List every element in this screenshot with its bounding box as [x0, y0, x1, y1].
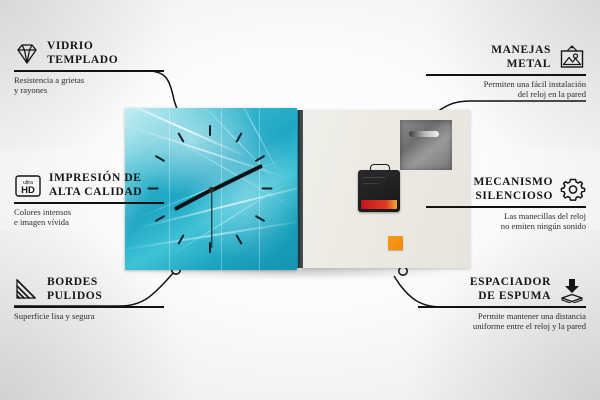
feature-title: ESPACIADOR DE ESPUMA	[470, 276, 551, 303]
mechanism-red-label	[361, 200, 397, 209]
feature-title: IMPRESIÓN DE ALTA CALIDAD	[49, 172, 142, 199]
picture-frame-hanger-icon	[558, 45, 586, 71]
feature-divider	[14, 306, 164, 308]
clock-tick	[209, 125, 211, 136]
metal-hanger-plate	[400, 120, 452, 170]
feature-heading: MANEJAS METAL	[426, 44, 586, 71]
feature-divider	[426, 206, 586, 208]
mechanism-detail-line	[363, 177, 385, 178]
feature-title: BORDES PULIDOS	[47, 276, 102, 303]
clock-side-edge	[298, 110, 303, 268]
feature-espaciador-espuma: ESPACIADOR DE ESPUMA Permite mantener un…	[418, 276, 586, 332]
feature-subtitle: Permiten una fácil instalación del reloj…	[426, 79, 586, 100]
feature-title: MANEJAS METAL	[491, 44, 551, 71]
feature-heading: VIDRIO TEMPLADO	[14, 40, 164, 67]
feature-subtitle: Las manecillas del reloj no emiten ningú…	[426, 211, 586, 232]
feature-divider	[14, 202, 164, 204]
feature-title: MECANISMO SILENCIOSO	[473, 176, 553, 203]
clock-mechanism	[358, 170, 400, 212]
product-image	[125, 108, 475, 278]
feature-heading: ultra HD IMPRESIÓN DE ALTA CALIDAD	[14, 172, 164, 199]
feature-subtitle: Superficie lisa y segura	[14, 311, 164, 322]
feature-subtitle: Permite mantener una distancia uniforme …	[418, 311, 586, 332]
hanger-slot	[409, 131, 439, 137]
feature-heading: MECANISMO SILENCIOSO	[426, 176, 586, 203]
svg-text:HD: HD	[21, 185, 35, 196]
feature-divider	[14, 70, 164, 72]
feature-heading: ESPACIADOR DE ESPUMA	[418, 276, 586, 303]
feature-impresion-alta-calidad: ultra HD IMPRESIÓN DE ALTA CALIDAD Color…	[14, 172, 164, 228]
feature-title: VIDRIO TEMPLADO	[47, 40, 118, 67]
mechanism-hook	[370, 164, 390, 172]
feature-manejas-metal: MANEJAS METAL Permiten una fácil instala…	[426, 44, 586, 100]
feature-subtitle: Colores intensos e imagen vívida	[14, 207, 164, 228]
foam-spacer-pad	[388, 236, 403, 250]
mechanism-detail-line	[363, 183, 379, 184]
feature-divider	[426, 74, 586, 76]
feature-subtitle: Resistencia a grietas y rayones	[14, 75, 164, 96]
clock-second-hand	[211, 190, 212, 248]
gear-icon	[560, 177, 586, 202]
feature-divider	[418, 306, 586, 308]
feature-heading: BORDES PULIDOS	[14, 276, 164, 303]
clock-tick	[262, 188, 273, 190]
feature-bordes-pulidos: BORDES PULIDOS Superficie lisa y segura	[14, 276, 164, 321]
diamond-icon	[14, 43, 40, 65]
feature-mecanismo-silencioso: MECANISMO SILENCIOSO Las manecillas del …	[426, 176, 586, 232]
clock-center-hub	[209, 187, 214, 192]
polished-edges-icon	[14, 278, 40, 301]
ultra-hd-icon: ultra HD	[14, 174, 42, 198]
feature-vidrio-templado: VIDRIO TEMPLADO Resistencia a grietas y …	[14, 40, 164, 96]
infographic-canvas: VIDRIO TEMPLADO Resistencia a grietas y …	[0, 0, 600, 400]
foam-spacer-arrow-icon	[558, 277, 586, 303]
